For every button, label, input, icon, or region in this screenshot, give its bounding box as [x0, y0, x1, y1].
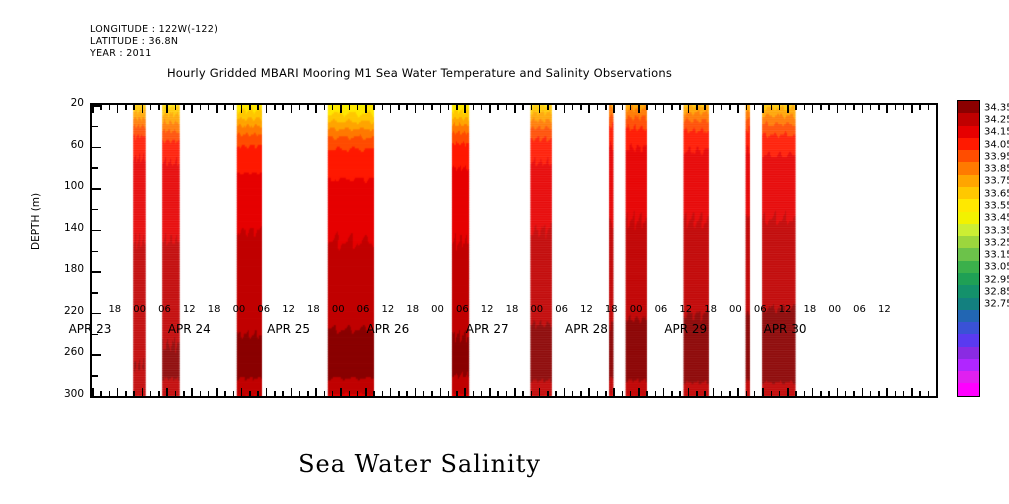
- x-axis-tick: [497, 105, 499, 110]
- colorbar-tick-label: 33.65: [984, 188, 1009, 199]
- x-axis-tick: [787, 388, 789, 396]
- colorbar: 34.3534.2534.1534.0533.9533.8533.7533.65…: [957, 100, 980, 397]
- x-axis-tick: [820, 391, 822, 396]
- x-axis-tick: [870, 391, 872, 396]
- latitude-label: LATITUDE : 36.8N: [90, 36, 178, 47]
- x-axis-tick: [324, 105, 326, 110]
- x-axis-tick: [862, 388, 864, 396]
- x-axis-tick: [166, 388, 168, 396]
- x-axis-tick: [133, 391, 135, 396]
- colorbar-swatch: [958, 101, 979, 113]
- x-axis-tick: [208, 105, 210, 110]
- x-axis-tick: [812, 105, 814, 113]
- x-axis-hour-label: 00: [729, 304, 742, 315]
- colorbar-swatch: [958, 126, 979, 138]
- x-axis-tick: [895, 391, 897, 396]
- colorbar-swatch: [958, 334, 979, 346]
- x-axis-tick: [216, 388, 218, 396]
- x-axis-tick: [514, 105, 516, 113]
- colorbar-swatch: [958, 347, 979, 359]
- colorbar-tick-label: 34.35: [984, 102, 1009, 113]
- x-axis-tick: [605, 105, 607, 110]
- x-axis-hour-label: 18: [307, 304, 320, 315]
- x-axis-tick: [564, 388, 566, 396]
- x-axis-tick: [746, 105, 748, 110]
- x-axis-tick: [183, 105, 185, 110]
- x-axis-hour-label: 06: [555, 304, 568, 315]
- x-axis-tick: [299, 391, 301, 396]
- x-axis-tick: [630, 391, 632, 396]
- x-axis-tick: [597, 105, 599, 110]
- x-axis-tick: [564, 105, 566, 113]
- x-axis-hour-label: 18: [804, 304, 817, 315]
- x-axis-tick: [200, 105, 202, 110]
- colorbar-tick-label: 33.55: [984, 200, 1009, 211]
- x-axis-tick: [762, 388, 764, 396]
- x-axis-tick: [456, 391, 458, 396]
- y-axis-label: 180: [56, 263, 84, 275]
- x-axis-tick: [837, 388, 839, 396]
- y-axis-tick: [92, 147, 101, 149]
- x-axis-tick: [373, 391, 375, 396]
- x-axis-hour-label: 12: [679, 304, 692, 315]
- x-axis-tick: [795, 105, 797, 110]
- x-axis-tick: [804, 105, 806, 110]
- x-axis-tick: [233, 105, 235, 110]
- x-axis-tick: [878, 105, 880, 110]
- x-axis-tick: [688, 388, 690, 396]
- y-axis-tick: [92, 251, 98, 253]
- x-axis-hour-label: 00: [630, 304, 643, 315]
- x-axis-tick: [870, 105, 872, 110]
- x-axis-tick: [349, 391, 351, 396]
- x-axis-hour-label: 18: [506, 304, 519, 315]
- x-axis-tick: [324, 391, 326, 396]
- x-axis-tick: [696, 105, 698, 110]
- x-axis-tick: [886, 388, 888, 396]
- y-axis-tick: [92, 292, 98, 294]
- x-axis-tick: [671, 391, 673, 396]
- x-axis-tick: [158, 391, 160, 396]
- x-axis-tick: [771, 105, 773, 110]
- x-axis-tick: [845, 105, 847, 110]
- x-axis-tick: [315, 388, 317, 396]
- colorbar-swatch: [958, 298, 979, 310]
- x-axis-hour-label: 12: [580, 304, 593, 315]
- x-axis-tick: [456, 105, 458, 110]
- x-axis-hour-label: 06: [456, 304, 469, 315]
- x-axis-tick: [713, 388, 715, 396]
- x-axis-tick: [398, 105, 400, 110]
- x-axis-tick: [249, 391, 251, 396]
- x-axis-tick: [423, 391, 425, 396]
- x-axis-tick: [787, 105, 789, 113]
- x-axis-tick: [762, 105, 764, 113]
- x-axis-tick: [340, 388, 342, 396]
- x-axis-tick: [233, 391, 235, 396]
- x-axis-tick: [125, 105, 127, 110]
- y-axis-tick: [92, 167, 98, 169]
- x-axis-tick: [522, 105, 524, 110]
- y-axis-title: DEPTH (m): [30, 193, 42, 250]
- x-axis-tick: [415, 388, 417, 396]
- colorbar-swatch: [958, 359, 979, 371]
- x-axis-tick: [497, 391, 499, 396]
- x-axis-tick: [473, 105, 475, 110]
- x-axis-tick: [580, 391, 582, 396]
- colorbar-swatch: [958, 371, 979, 383]
- x-axis-tick: [274, 105, 276, 110]
- x-axis-hour-label: 12: [382, 304, 395, 315]
- x-axis-day-label: APR 23: [69, 322, 112, 336]
- figure-caption-text: Sea Water Salinity: [298, 450, 541, 478]
- y-axis-label: 300: [56, 388, 84, 400]
- x-axis-tick: [109, 105, 111, 110]
- x-axis-tick: [580, 105, 582, 110]
- x-axis-tick: [175, 105, 177, 110]
- y-axis-tick: [92, 126, 98, 128]
- x-axis-tick: [622, 391, 624, 396]
- x-axis-tick: [257, 391, 259, 396]
- x-axis-tick: [440, 105, 442, 113]
- x-axis-tick: [332, 105, 334, 110]
- colorbar-swatch: [958, 248, 979, 260]
- x-axis-tick: [936, 105, 938, 113]
- x-axis-day-label: APR 28: [565, 322, 608, 336]
- colorbar-swatch: [958, 138, 979, 150]
- y-axis-tick: [92, 396, 101, 398]
- colorbar-tick-label: 33.25: [984, 237, 1009, 248]
- colorbar-swatch: [958, 199, 979, 211]
- x-axis-tick: [795, 391, 797, 396]
- x-axis-hour-label: 00: [332, 304, 345, 315]
- x-axis-tick: [737, 105, 739, 113]
- x-axis-tick: [837, 105, 839, 113]
- x-axis-tick: [754, 105, 756, 110]
- colorbar-gradient: [957, 100, 980, 397]
- x-axis-tick: [646, 391, 648, 396]
- x-axis-hour-label: 06: [158, 304, 171, 315]
- x-axis-tick: [282, 105, 284, 110]
- x-axis-tick: [208, 391, 210, 396]
- colorbar-tick-label: 32.95: [984, 274, 1009, 285]
- y-axis-tick: [92, 375, 98, 377]
- colorbar-tick-label: 32.85: [984, 287, 1009, 298]
- x-axis-tick: [605, 391, 607, 396]
- x-axis-tick: [638, 388, 640, 396]
- x-axis-day-label: APR 27: [466, 322, 509, 336]
- colorbar-swatch: [958, 261, 979, 273]
- x-axis-hour-label: 18: [704, 304, 717, 315]
- x-axis-tick: [622, 105, 624, 110]
- x-axis-tick: [150, 391, 152, 396]
- y-axis-tick: [92, 230, 101, 232]
- x-axis-tick: [357, 105, 359, 110]
- x-axis-tick: [737, 388, 739, 396]
- x-axis-tick: [828, 105, 830, 110]
- x-axis-tick: [406, 391, 408, 396]
- x-axis-hour-label: 12: [183, 304, 196, 315]
- x-axis-tick: [183, 391, 185, 396]
- colorbar-tick-label: 34.25: [984, 114, 1009, 125]
- colorbar-tick-label: 33.35: [984, 225, 1009, 236]
- colorbar-swatch: [958, 273, 979, 285]
- x-axis-tick: [241, 105, 243, 113]
- x-axis-tick: [779, 105, 781, 110]
- x-axis-hour-label: 18: [406, 304, 419, 315]
- x-axis-tick: [249, 105, 251, 110]
- x-axis-hour-label: 06: [655, 304, 668, 315]
- x-axis-tick: [663, 105, 665, 113]
- year-label: YEAR : 2011: [90, 48, 152, 59]
- x-axis-tick: [903, 391, 905, 396]
- x-axis-tick: [522, 391, 524, 396]
- y-axis-label: 140: [56, 222, 84, 234]
- x-axis-tick: [919, 105, 921, 110]
- x-axis-tick: [117, 105, 119, 113]
- longitude-label: LONGITUDE : 122W(-122): [90, 24, 218, 35]
- x-axis-hour-label: 06: [853, 304, 866, 315]
- colorbar-swatch: [958, 175, 979, 187]
- x-axis-tick: [903, 105, 905, 110]
- colorbar-tick-label: 33.45: [984, 213, 1009, 224]
- x-axis-day-label: APR 29: [664, 322, 707, 336]
- salinity-heatmap-canvas: [92, 105, 936, 396]
- x-axis-tick: [431, 391, 433, 396]
- x-axis-tick: [630, 105, 632, 110]
- x-axis-day-label: APR 26: [366, 322, 409, 336]
- x-axis-tick: [638, 105, 640, 113]
- x-axis-hour-label: 12: [878, 304, 891, 315]
- x-axis-tick: [142, 105, 144, 113]
- x-axis-tick: [531, 391, 533, 396]
- x-axis-tick: [191, 388, 193, 396]
- x-axis-tick: [812, 388, 814, 396]
- colorbar-swatch: [958, 162, 979, 174]
- colorbar-tick-label: 34.15: [984, 127, 1009, 138]
- x-axis-hour-label: 18: [108, 304, 121, 315]
- x-axis-tick: [555, 391, 557, 396]
- chart-title: Hourly Gridded MBARI Mooring M1 Sea Wate…: [0, 66, 1009, 80]
- x-axis-tick: [804, 391, 806, 396]
- x-axis-tick: [349, 105, 351, 110]
- x-axis-hour-label: 00: [431, 304, 444, 315]
- colorbar-swatch: [958, 212, 979, 224]
- x-axis-hour-label: 06: [357, 304, 370, 315]
- x-axis-tick: [241, 388, 243, 396]
- x-axis-tick: [307, 391, 309, 396]
- x-axis-tick: [771, 391, 773, 396]
- x-axis-hour-label: 12: [282, 304, 295, 315]
- x-axis-tick: [878, 391, 880, 396]
- colorbar-tick-label: 33.95: [984, 151, 1009, 162]
- x-axis-tick: [663, 388, 665, 396]
- x-axis-tick: [390, 388, 392, 396]
- x-axis-tick: [547, 391, 549, 396]
- x-axis-tick: [539, 388, 541, 396]
- x-axis-tick: [779, 391, 781, 396]
- x-axis-tick: [307, 105, 309, 110]
- x-axis-tick: [274, 391, 276, 396]
- x-axis-tick: [655, 105, 657, 110]
- colorbar-tick-label: 33.05: [984, 262, 1009, 273]
- x-axis-hour-label: 00: [828, 304, 841, 315]
- x-axis-tick: [704, 105, 706, 110]
- x-axis-tick: [729, 391, 731, 396]
- x-axis-day-label: APR 25: [267, 322, 310, 336]
- x-axis-tick: [431, 105, 433, 110]
- y-axis-label: 260: [56, 346, 84, 358]
- x-axis-tick: [655, 391, 657, 396]
- colorbar-swatch: [958, 187, 979, 199]
- x-axis-tick: [489, 388, 491, 396]
- x-axis-tick: [853, 391, 855, 396]
- x-axis-tick: [365, 105, 367, 113]
- x-axis-tick: [746, 391, 748, 396]
- x-axis-tick: [100, 391, 102, 396]
- x-axis-tick: [646, 105, 648, 110]
- x-axis-tick: [555, 105, 557, 110]
- x-axis-tick: [754, 391, 756, 396]
- colorbar-swatch: [958, 224, 979, 236]
- x-axis-hour-label: 12: [779, 304, 792, 315]
- x-axis-tick: [588, 388, 590, 396]
- y-axis-label: 20: [56, 97, 84, 109]
- x-axis-tick: [365, 388, 367, 396]
- x-axis-hour-label: 00: [530, 304, 543, 315]
- colorbar-tick-label: 32.75: [984, 299, 1009, 310]
- colorbar-swatch: [958, 310, 979, 322]
- x-axis-tick: [266, 388, 268, 396]
- x-axis-tick: [597, 391, 599, 396]
- x-axis-tick: [423, 105, 425, 110]
- x-axis-tick: [704, 391, 706, 396]
- y-axis-label: 100: [56, 180, 84, 192]
- y-axis-label: 60: [56, 139, 84, 151]
- x-axis-hour-label: 12: [481, 304, 494, 315]
- x-axis-tick: [390, 105, 392, 113]
- x-axis-tick: [713, 105, 715, 113]
- x-axis-tick: [481, 391, 483, 396]
- x-axis-tick: [588, 105, 590, 113]
- plot-area: [90, 103, 938, 398]
- x-axis-tick: [473, 391, 475, 396]
- x-axis-tick: [489, 105, 491, 113]
- x-axis-tick: [679, 391, 681, 396]
- x-axis-tick: [506, 105, 508, 110]
- y-axis-tick: [92, 354, 101, 356]
- x-axis-tick: [928, 105, 930, 110]
- x-axis-tick: [142, 388, 144, 396]
- x-axis-tick: [340, 105, 342, 113]
- x-axis-hour-label: 00: [233, 304, 246, 315]
- x-axis-tick: [911, 105, 913, 113]
- x-axis-tick: [464, 388, 466, 396]
- x-axis-tick: [332, 391, 334, 396]
- x-axis-tick: [721, 391, 723, 396]
- y-axis-tick: [92, 209, 98, 211]
- x-axis-tick: [514, 388, 516, 396]
- x-axis-tick: [109, 391, 111, 396]
- y-axis-tick: [92, 271, 101, 273]
- x-axis-tick: [481, 105, 483, 110]
- x-axis-hour-label: 18: [605, 304, 618, 315]
- y-axis-label: 220: [56, 305, 84, 317]
- x-axis-tick: [911, 388, 913, 396]
- x-axis-tick: [828, 391, 830, 396]
- x-axis-tick: [448, 105, 450, 110]
- x-axis-tick: [415, 105, 417, 113]
- x-axis-tick: [853, 105, 855, 110]
- x-axis-tick: [572, 391, 574, 396]
- x-axis-tick: [729, 105, 731, 110]
- x-axis-tick: [133, 105, 135, 110]
- x-axis-hour-label: 18: [208, 304, 221, 315]
- colorbar-swatch: [958, 150, 979, 162]
- colorbar-swatch: [958, 285, 979, 297]
- x-axis-tick: [928, 391, 930, 396]
- x-axis-tick: [506, 391, 508, 396]
- x-axis-tick: [936, 388, 938, 396]
- x-axis-hour-label: 06: [754, 304, 767, 315]
- x-axis-tick: [92, 388, 94, 396]
- colorbar-tick-label: 33.85: [984, 164, 1009, 175]
- x-axis-tick: [291, 105, 293, 113]
- x-axis-tick: [886, 105, 888, 113]
- x-axis-tick: [919, 391, 921, 396]
- colorbar-tick-label: 33.15: [984, 250, 1009, 261]
- x-axis-tick: [862, 105, 864, 113]
- x-axis-tick: [613, 105, 615, 113]
- x-axis-hour-label: 06: [257, 304, 270, 315]
- x-axis-tick: [200, 391, 202, 396]
- x-axis-tick: [357, 391, 359, 396]
- colorbar-swatch: [958, 113, 979, 125]
- x-axis-tick: [398, 391, 400, 396]
- x-axis-tick: [224, 105, 226, 110]
- x-axis-tick: [572, 105, 574, 110]
- x-axis-tick: [291, 388, 293, 396]
- x-axis-tick: [820, 105, 822, 110]
- x-axis-tick: [158, 105, 160, 110]
- x-axis-tick: [547, 105, 549, 110]
- x-axis-tick: [117, 388, 119, 396]
- x-axis-tick: [721, 105, 723, 110]
- x-axis-tick: [531, 105, 533, 110]
- x-axis-tick: [92, 105, 94, 113]
- x-axis-tick: [696, 391, 698, 396]
- x-axis-tick: [150, 105, 152, 110]
- y-axis-tick: [92, 188, 101, 190]
- x-axis-tick: [191, 105, 193, 113]
- x-axis-tick: [382, 105, 384, 110]
- x-axis-tick: [448, 391, 450, 396]
- x-axis-tick: [166, 105, 168, 113]
- x-axis-tick: [406, 105, 408, 110]
- x-axis-tick: [671, 105, 673, 110]
- colorbar-tick-label: 34.05: [984, 139, 1009, 150]
- x-axis-tick: [613, 388, 615, 396]
- colorbar-swatch: [958, 383, 979, 395]
- x-axis-tick: [224, 391, 226, 396]
- y-axis-tick: [92, 313, 101, 315]
- x-axis-tick: [688, 105, 690, 113]
- figure-caption: Sea Water Salinity: [0, 450, 1009, 478]
- chart-title-text: Hourly Gridded MBARI Mooring M1 Sea Wate…: [167, 66, 672, 80]
- x-axis-tick: [216, 105, 218, 113]
- x-axis-day-label: APR 30: [764, 322, 807, 336]
- x-axis-tick: [315, 105, 317, 113]
